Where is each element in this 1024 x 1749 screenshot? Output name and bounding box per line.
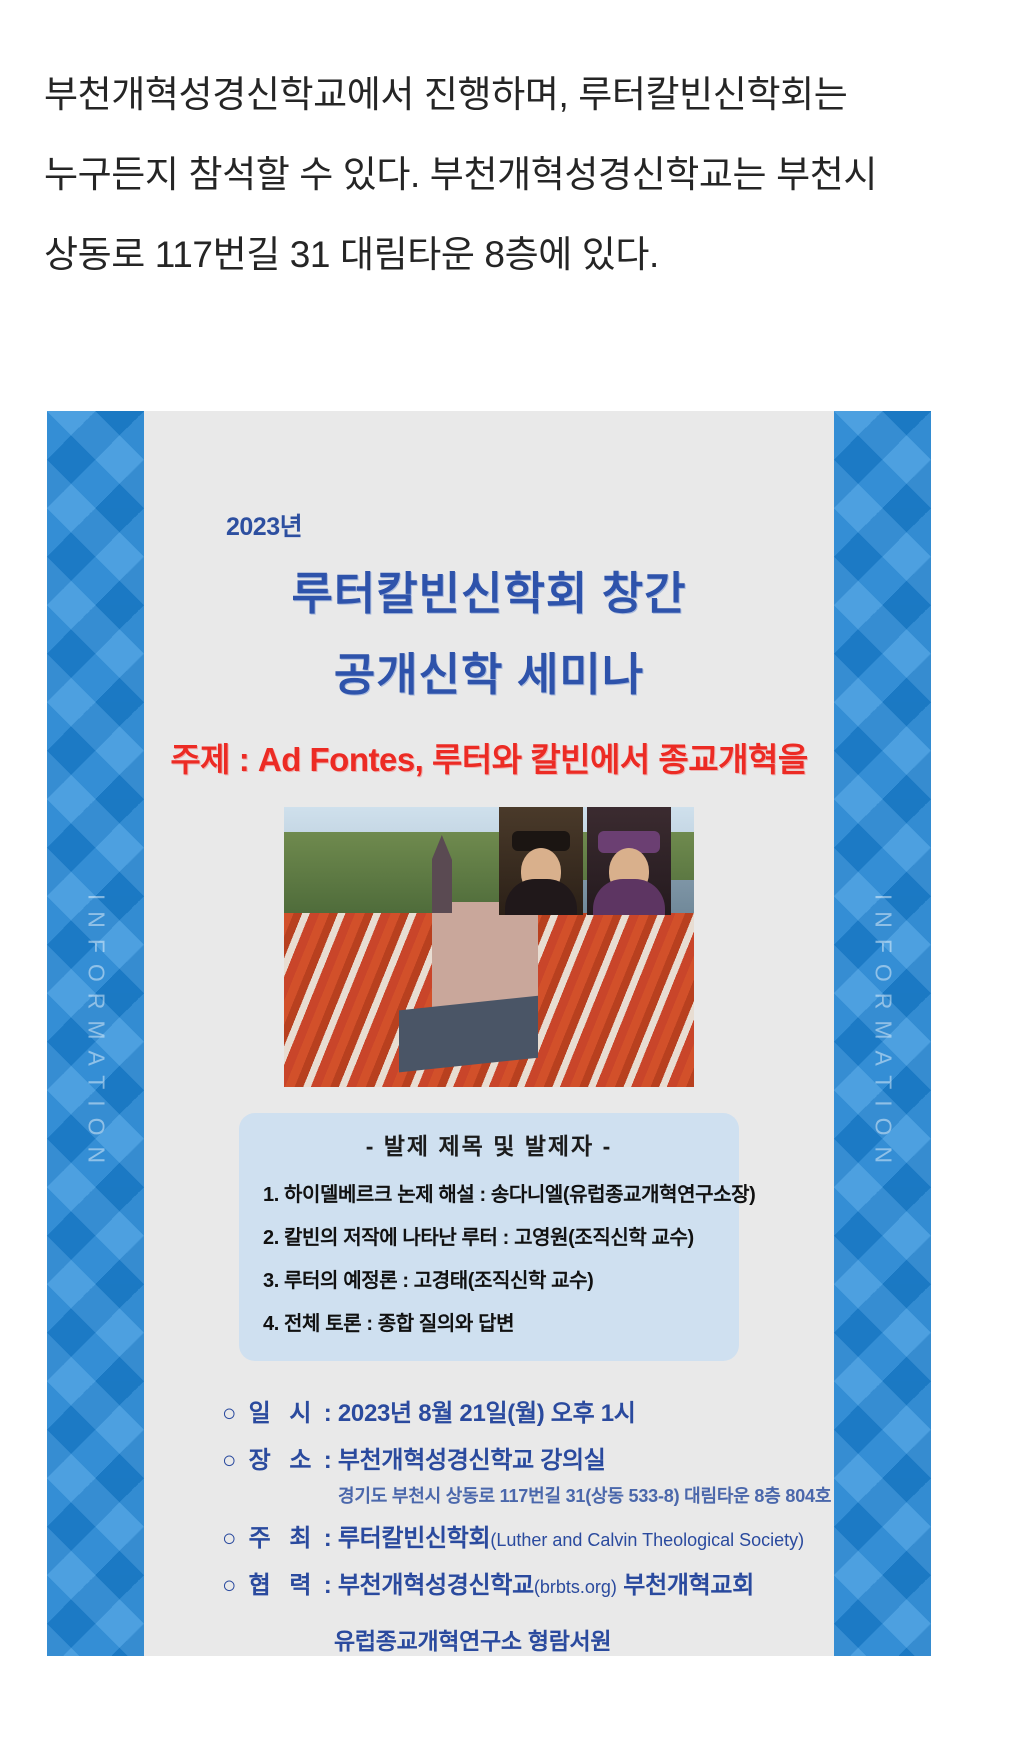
info-row-host: ○ 주 최 : 루터칼빈신학회(Luther and Calvin Theolo… xyxy=(222,1512,834,1559)
info-separator: : xyxy=(324,1572,332,1599)
poster-canvas: INFORMATION INFORMATION 2023년 루터칼빈신학회 창간… xyxy=(47,411,931,1656)
poster-left-sidebar: INFORMATION xyxy=(47,411,144,1656)
bullet-circle-icon: ○ xyxy=(222,1525,236,1552)
info-row-venue: ○ 장 소 : 부천개혁성경신학교 강의실 xyxy=(222,1434,834,1481)
poster-right-sidebar: INFORMATION xyxy=(834,411,931,1656)
bullet-circle-icon: ○ xyxy=(222,1447,236,1474)
information-label-left: INFORMATION xyxy=(82,893,109,1173)
calvin-portrait xyxy=(499,807,583,915)
info-row-datetime: ○ 일 시 : 2023년 8월 21일(월) 오후 1시 xyxy=(222,1387,834,1434)
list-item: 2. 칼빈의 저작에 나타난 루터 : 고영원(조직신학 교수) xyxy=(239,1214,739,1257)
luther-portrait xyxy=(587,807,671,915)
info-value: 2023년 8월 21일(월) 오후 1시 xyxy=(338,1400,636,1427)
venue-address: 경기도 부천시 상동로 117번길 31(상동 533-8) 대림타운 8층 8… xyxy=(222,1481,834,1512)
poster-title-line-1: 루터칼빈신학회 창간 xyxy=(144,543,834,622)
presentation-list-heading: - 발제 제목 및 발제자 - xyxy=(239,1127,739,1171)
info-value-secondary: 부천개혁교회 xyxy=(623,1572,754,1599)
info-separator: : xyxy=(324,1525,332,1552)
info-row-cooperation: ○ 협 력 : 부천개혁성경신학교(brbts.org) 부천개혁교회 xyxy=(222,1559,834,1606)
poster-content: 2023년 루터칼빈신학회 창간 공개신학 세미나 주제 : Ad Fontes… xyxy=(144,411,834,1656)
list-item: 1. 하이델베르크 논제 해설 : 송다니엘(유럽종교개혁연구소장) xyxy=(239,1171,739,1214)
article-paragraph: 부천개혁성경신학교에서 진행하며, 루터칼빈신학회는 누구든지 참석할 수 있다… xyxy=(0,37,1024,295)
poster-title-line-2: 공개신학 세미나 xyxy=(144,622,834,703)
poster-year: 2023년 xyxy=(144,411,834,543)
info-value-paren: (Luther and Calvin Theological Society) xyxy=(490,1530,804,1550)
info-value-paren: (brbts.org) xyxy=(534,1577,617,1597)
info-label: 주 최 xyxy=(249,1525,318,1552)
information-label-right: INFORMATION xyxy=(869,893,896,1173)
list-item: 3. 루터의 예정론 : 고경태(조직신학 교수) xyxy=(239,1257,739,1300)
poster-info-block: ○ 일 시 : 2023년 8월 21일(월) 오후 1시 ○ 장 소 : 부천… xyxy=(144,1387,834,1656)
bullet-circle-icon: ○ xyxy=(222,1572,236,1599)
info-label: 장 소 xyxy=(249,1447,318,1474)
info-partners-line: 유럽종교개혁연구소 형람서원 xyxy=(222,1606,834,1656)
info-value: 부천개혁성경신학교 강의실 xyxy=(338,1447,606,1474)
presentation-list-box: - 발제 제목 및 발제자 - 1. 하이델베르크 논제 해설 : 송다니엘(유… xyxy=(239,1113,739,1361)
calvin-robe xyxy=(505,879,577,915)
bullet-circle-icon: ○ xyxy=(222,1400,236,1427)
info-separator: : xyxy=(324,1400,332,1427)
info-value: 루터칼빈신학회 xyxy=(338,1525,490,1552)
poster-subject: 주제 : Ad Fontes, 루터와 칼빈에서 종교개혁을 xyxy=(144,703,834,781)
info-value: 부천개혁성경신학교 xyxy=(338,1572,534,1599)
list-item: 4. 전체 토론 : 종합 질의와 답변 xyxy=(239,1300,739,1343)
info-label: 협 력 xyxy=(249,1572,318,1599)
heidelberg-photo xyxy=(284,807,694,1087)
info-separator: : xyxy=(324,1447,332,1474)
luther-robe xyxy=(593,879,665,915)
seminar-poster-image[interactable]: INFORMATION INFORMATION 2023년 루터칼빈신학회 창간… xyxy=(47,411,931,1656)
info-label: 일 시 xyxy=(249,1400,318,1427)
